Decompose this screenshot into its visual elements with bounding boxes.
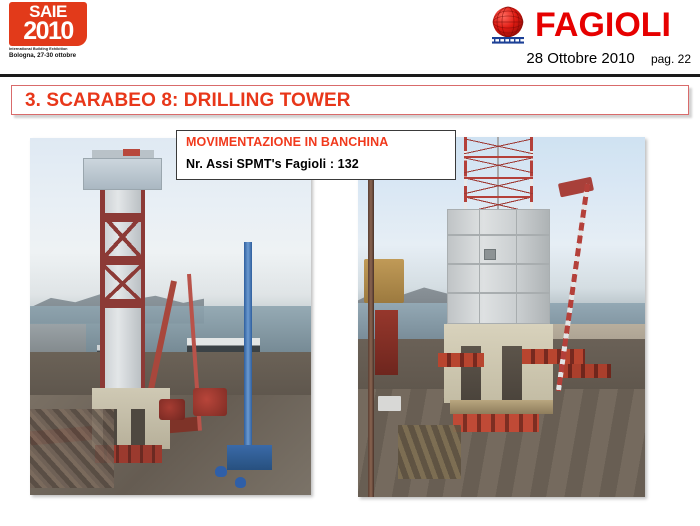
photo-housing-seam-2	[447, 263, 550, 265]
caption-heading: MOVIMENTAZIONE IN BANCHINA	[186, 135, 388, 149]
photo-leg-gap-2	[131, 409, 145, 448]
photo-derrick-girt-2	[464, 177, 533, 179]
photo-derrick-girt-1	[464, 156, 533, 158]
photo-spmt-trailers-4	[559, 364, 611, 378]
photo-load-beam	[450, 400, 553, 414]
photo-derrick-lattice	[461, 137, 536, 216]
photo-red-machinery-1	[193, 388, 227, 417]
photo-derrick-girt-3	[100, 299, 145, 308]
saie-badge-year: 2010	[23, 18, 73, 45]
photo-housing-hatch	[484, 249, 495, 261]
photo-drill-floor-housing	[447, 209, 550, 324]
photo-spmt-trailers-2	[438, 353, 484, 367]
header-meta: 28 Ottobre 2010 pag. 22	[526, 50, 691, 67]
photo-drilling-tower-wide	[30, 138, 311, 495]
photo-housing-seam-4	[479, 209, 480, 324]
photo-housing-seam-5	[516, 209, 517, 324]
photo-leg-gap-2	[502, 346, 522, 404]
photo-drilling-tower-close	[358, 137, 645, 497]
photo-yard-clutter	[30, 409, 114, 488]
photo-derrick-brace-1	[464, 139, 533, 155]
photo-truck	[378, 396, 401, 410]
photo-housing-seam-3	[447, 292, 550, 294]
photo-derrick-brace-3	[464, 178, 533, 194]
photo-foreground-mast	[368, 137, 374, 497]
photo-spmt-trailers-3	[522, 349, 585, 363]
saie-subtitle-it: Bologna, 27-30 ottobre	[9, 52, 87, 60]
photo-derrick-girt-2	[100, 256, 145, 265]
fagioli-wordmark: FAGIOLI	[535, 6, 671, 44]
fagioli-logo: FAGIOLI	[483, 4, 693, 48]
photo-crown-marker	[123, 149, 140, 156]
photo-derrick-brace-2	[464, 158, 533, 174]
photo-housing-seam-1	[447, 234, 550, 236]
photo-red-machinery-2	[159, 399, 184, 420]
photo-derrick-girt-3	[464, 196, 533, 198]
presentation-date: 28 Ottobre 2010	[526, 50, 634, 67]
photo-derrick-leg-right	[141, 174, 145, 395]
slide-title-banner: 3. SCARABEO 8: DRILLING TOWER	[11, 85, 689, 115]
page-number: pag. 22	[651, 52, 691, 66]
header-divider	[0, 74, 700, 77]
page-title: 3. SCARABEO 8: DRILLING TOWER	[25, 90, 351, 112]
photo-foreground-red-unit	[375, 310, 398, 375]
saie-badge: SAIE 2010	[9, 2, 87, 46]
caption-detail: Nr. Assi SPMT's Fagioli : 132	[186, 157, 359, 171]
photo-tower-crane-blue	[244, 242, 252, 456]
photo-derrick-girt-1	[100, 213, 145, 222]
photo-spmt-trailers-main	[453, 414, 539, 432]
photo-worker-helmet-1	[215, 466, 226, 477]
photo-derrick-leg-left	[100, 174, 104, 395]
caption-box: MOVIMENTAZIONE IN BANCHINA Nr. Assi SPMT…	[176, 130, 456, 180]
photo-tower-crane-blue-base	[227, 445, 272, 470]
globe-icon	[488, 5, 528, 47]
page-header: SAIE 2010 International Building Exhibit…	[0, 0, 700, 77]
saie-logo: SAIE 2010 International Building Exhibit…	[9, 2, 87, 60]
photo-drill-floor-housing	[83, 158, 162, 190]
photo-yard-clutter	[398, 425, 461, 479]
photo-worker-helmet-2	[235, 477, 246, 488]
